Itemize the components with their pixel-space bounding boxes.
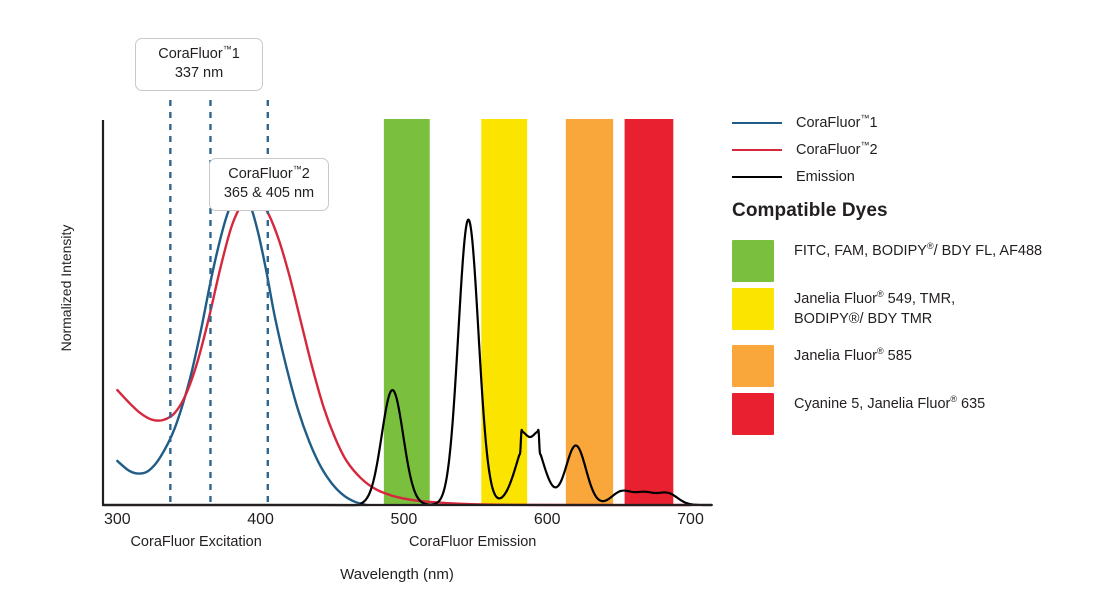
legend-item-emission[interactable]: Emission (732, 169, 855, 185)
dye-color-swatch (732, 345, 774, 387)
trademark-icon: ™ (223, 44, 232, 54)
dye-label: FITC, FAM, BODIPY®/ BDY FL, AF488 (794, 240, 1042, 262)
registered-icon: ® (877, 346, 884, 356)
dye-color-swatch (732, 393, 774, 435)
dye-label: Cyanine 5, Janelia Fluor® 635 (794, 393, 985, 415)
dye-row[interactable]: Cyanine 5, Janelia Fluor® 635 (732, 393, 985, 435)
dye-row[interactable]: Janelia Fluor® 585 (732, 345, 912, 387)
x-tick-600: 600 (517, 511, 577, 529)
legend-item-label: Emission (796, 169, 855, 185)
callout-1-suffix: 1 (232, 46, 240, 62)
dye-color-swatch (732, 240, 774, 282)
callout-corafluor-2: CoraFluor™2 365 & 405 nm (209, 158, 329, 211)
x-axis-title: Wavelength (nm) (272, 566, 522, 583)
x-tick-700: 700 (661, 511, 721, 529)
legend-item-label: CoraFluor™1 (796, 115, 878, 131)
legend-item-label: CoraFluor™2 (796, 142, 878, 158)
legend-item-corafluor1[interactable]: CoraFluor™1 (732, 115, 878, 131)
y-axis-label: Normalized Intensity (58, 198, 74, 378)
dye-color-swatch (732, 288, 774, 330)
registered-icon: ® (877, 289, 884, 299)
trademark-icon: ™ (293, 164, 302, 174)
compatible-dyes-heading: Compatible Dyes (732, 200, 888, 222)
dye-row[interactable]: FITC, FAM, BODIPY®/ BDY FL, AF488 (732, 240, 1042, 282)
dye-row[interactable]: Janelia Fluor® 549, TMR,BODIPY®/ BDY TMR (732, 288, 955, 330)
dye-label: Janelia Fluor® 549, TMR,BODIPY®/ BDY TMR (794, 288, 955, 329)
callout-corafluor-1: CoraFluor™1 337 nm (135, 38, 263, 91)
dye-label: Janelia Fluor® 585 (794, 345, 912, 367)
callout-1-name: CoraFluor (158, 46, 222, 62)
callout-2-suffix: 2 (302, 166, 310, 182)
registered-icon: ® (927, 241, 934, 251)
callout-2-name: CoraFluor (228, 166, 292, 182)
emission-region-label: CoraFluor Emission (383, 534, 563, 550)
x-tick-300: 300 (87, 511, 147, 529)
green-band (384, 119, 430, 505)
excitation-region-label: CoraFluor Excitation (106, 534, 286, 550)
x-tick-500: 500 (374, 511, 434, 529)
legend-line-swatch (732, 176, 782, 178)
curve-corafluor-1 (117, 193, 366, 505)
legend-line-swatch (732, 122, 782, 124)
legend-item-corafluor2[interactable]: CoraFluor™2 (732, 142, 878, 158)
legend-line-swatch (732, 149, 782, 151)
right-panel: Compatible Dyes CoraFluor™1CoraFluor™2Em… (730, 0, 1110, 612)
red-band (625, 119, 674, 505)
callout-1-value: 337 nm (147, 64, 251, 83)
chart-area: CoraFluor™1 337 nm CoraFluor™2 365 & 405… (0, 0, 720, 612)
callout-2-value: 365 & 405 nm (221, 184, 317, 203)
x-tick-400: 400 (231, 511, 291, 529)
